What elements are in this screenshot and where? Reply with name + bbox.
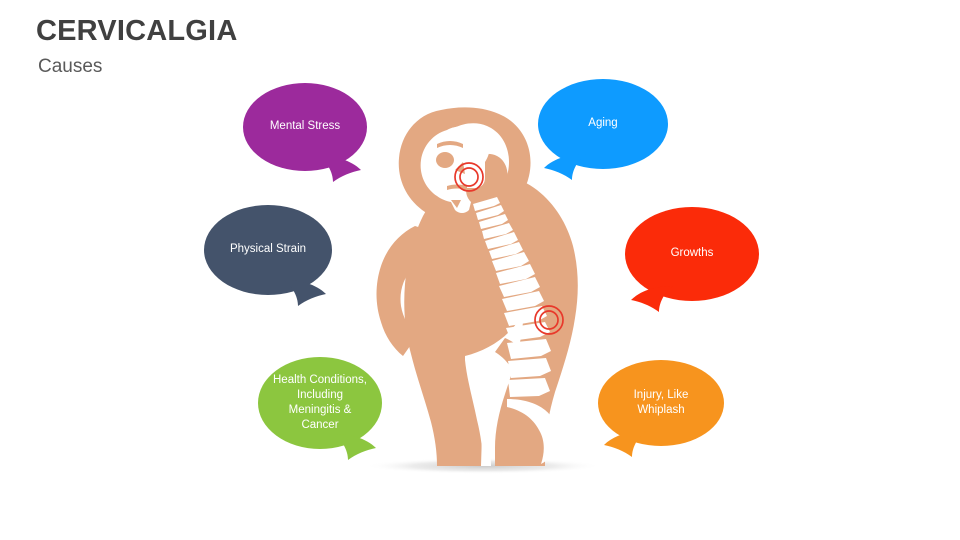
bubble-tail-icon	[602, 429, 648, 459]
bubble-physical-strain[interactable]: Physical Strain	[204, 205, 332, 295]
bubble-label-mental-stress: Mental Stress	[256, 119, 354, 134]
bubble-mental-stress[interactable]: Mental Stress	[243, 83, 367, 171]
page-subtitle: Causes	[38, 57, 237, 78]
page-title: CERVICALGIA	[36, 16, 237, 48]
slide-canvas: CERVICALGIA Causes	[0, 0, 960, 540]
bubble-injury-whiplash[interactable]: Injury, Like Whiplash	[598, 360, 724, 446]
leg-gap	[481, 400, 491, 466]
bubble-tail-icon	[332, 432, 378, 462]
bubble-health-conditions[interactable]: Health Conditions, Including Meningitis …	[258, 357, 382, 449]
bubble-label-physical-strain: Physical Strain	[216, 242, 320, 257]
bubble-label-aging: Aging	[574, 116, 631, 131]
bubble-label-injury-whiplash: Injury, Like Whiplash	[620, 388, 703, 418]
bubble-tail-icon	[282, 278, 328, 308]
bubble-growths[interactable]: Growths	[625, 207, 759, 301]
title-block: CERVICALGIA Causes	[36, 16, 237, 78]
bubble-label-growths: Growths	[657, 246, 728, 261]
bubble-label-health-conditions: Health Conditions, Including Meningitis …	[259, 373, 381, 434]
bubble-aging[interactable]: Aging	[538, 79, 668, 169]
bubble-tail-icon	[629, 284, 675, 314]
bubble-tail-icon	[317, 154, 363, 184]
bubble-tail-icon	[542, 152, 588, 182]
